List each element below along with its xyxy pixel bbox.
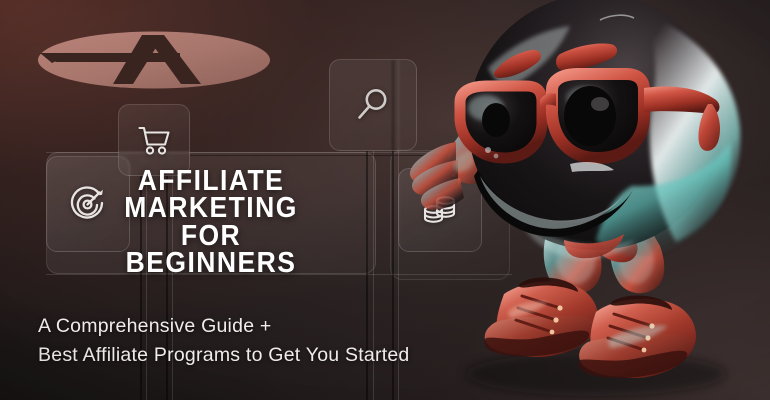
title-line-2: MARKETING <box>61 195 360 222</box>
affiliate-marketing-banner: AFFILIATE MARKETING FOR BEGINNERS A Comp… <box>0 0 770 400</box>
title-line-4: BEGINNERS <box>61 250 360 277</box>
chrome-mascot <box>400 0 770 400</box>
page-subtitle: A Comprehensive Guide + Best Affiliate P… <box>38 312 410 370</box>
pupil-right <box>564 86 616 146</box>
mascot-head <box>460 0 740 259</box>
mascot-boot-left <box>484 277 598 357</box>
subtitle-line-1: A Comprehensive Guide + <box>38 312 410 341</box>
title-line-3: FOR <box>61 223 360 250</box>
page-title: AFFILIATE MARKETING FOR BEGINNERS <box>61 168 360 277</box>
subtitle-line-2: Best Affiliate Programs to Get You Start… <box>38 341 410 370</box>
shopping-cart-icon <box>137 123 171 157</box>
pupil-left <box>482 103 510 137</box>
search-icon <box>353 85 393 125</box>
brand-logo[interactable] <box>38 31 271 89</box>
